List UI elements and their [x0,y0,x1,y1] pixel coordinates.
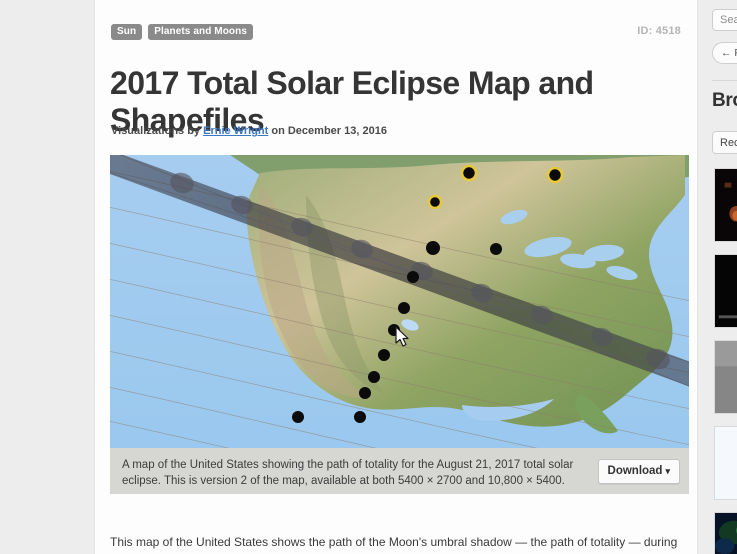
search-placeholder: Search [720,14,737,26]
back-pill-button[interactable]: ← P [712,42,737,64]
download-label: Download [608,465,663,477]
byline-prefix: Visualizations by [111,125,203,137]
eclipse-map-image[interactable] [110,155,689,448]
tag-sun[interactable]: Sun [111,24,142,40]
tag-planets-and-moons[interactable]: Planets and Moons [148,24,253,40]
right-sidebar: Search ← P Browse Recent [706,0,737,554]
search-input[interactable]: Search [712,9,737,31]
back-pill-label: ← P [721,47,737,59]
author-link[interactable]: Ernie Wright [203,125,268,137]
thumbnail-white-clouds-image [715,427,737,499]
byline-suffix: on December 13, 2016 [268,125,387,137]
article-panel: Sun Planets and Moons ID: 4518 2017 Tota… [95,0,697,554]
recent-filter-button[interactable]: Recent [712,131,737,154]
thumbnail-dark-nebula-image [715,169,737,241]
tag-list: Sun Planets and Moons [111,24,253,40]
browse-heading: Browse [712,90,737,112]
thumbnail-gray-earth[interactable] [714,340,737,414]
figure-caption-bar: A map of the United States showing the p… [110,448,689,494]
download-button[interactable]: Download▾ [598,459,680,484]
thumbnail-night-earth[interactable] [714,512,737,554]
article-id: ID: 4518 [637,25,681,37]
thumbnail-gray-earth-image [715,341,737,413]
thumbnail-white-clouds[interactable] [714,426,737,500]
article-paragraph: This map of the United States shows the … [110,533,690,554]
figure-caption: A map of the United States showing the p… [122,457,577,489]
page-root: Sun Planets and Moons ID: 4518 2017 Tota… [0,0,737,554]
byline: Visualizations by Ernie Wright on Decemb… [111,125,387,137]
sidebar-divider [712,80,737,81]
thumbnail-dark-nebula[interactable] [714,168,737,242]
recent-label: Recent [720,137,737,149]
thumbnail-black-strip-image [715,255,737,327]
thumbnail-night-earth-image [715,513,737,554]
chevron-down-icon: ▾ [665,466,670,476]
map-graphic [110,155,689,448]
thumbnail-black-strip[interactable] [714,254,737,328]
